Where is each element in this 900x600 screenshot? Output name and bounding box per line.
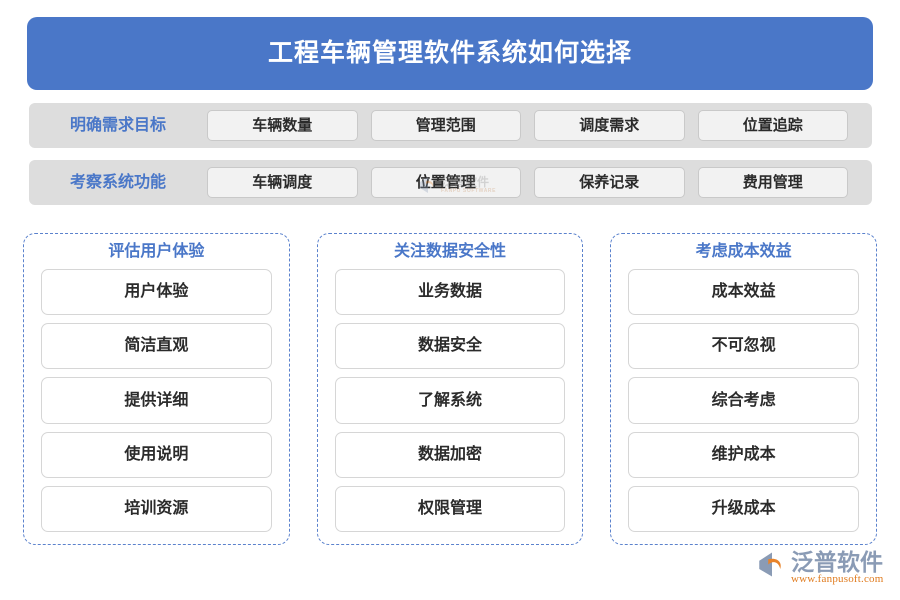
column-user-experience: 评估用户体验 用户体验 简洁直观 提供详细 使用说明 培训资源 bbox=[23, 233, 290, 545]
list-item[interactable]: 数据加密 bbox=[335, 432, 566, 478]
criteria-pill[interactable]: 调度需求 bbox=[534, 110, 685, 141]
list-item[interactable]: 成本效益 bbox=[628, 269, 859, 315]
brand-url: www.fanpusoft.com bbox=[791, 573, 884, 585]
criteria-pill-group: 车辆数量 管理范围 调度需求 位置追踪 bbox=[207, 110, 872, 141]
list-item[interactable]: 了解系统 bbox=[335, 377, 566, 423]
criteria-row-label: 考察系统功能 bbox=[29, 175, 207, 191]
list-item[interactable]: 升级成本 bbox=[628, 486, 859, 532]
column-cost-benefit: 考虑成本效益 成本效益 不可忽视 综合考虑 维护成本 升级成本 bbox=[610, 233, 877, 545]
list-item[interactable]: 简洁直观 bbox=[41, 323, 272, 369]
criteria-pill[interactable]: 保养记录 bbox=[534, 167, 685, 198]
criteria-row-functions: 考察系统功能 车辆调度 位置管理 保养记录 费用管理 bbox=[29, 160, 872, 205]
column-item-list: 成本效益 不可忽视 综合考虑 维护成本 升级成本 bbox=[628, 269, 859, 532]
list-item[interactable]: 使用说明 bbox=[41, 432, 272, 478]
brand-logo-text: 泛普软件 www.fanpusoft.com bbox=[791, 550, 884, 585]
fanpu-logo-icon bbox=[757, 551, 787, 578]
criteria-row-requirements: 明确需求目标 车辆数量 管理范围 调度需求 位置追踪 bbox=[29, 103, 872, 148]
criteria-pill[interactable]: 管理范围 bbox=[371, 110, 522, 141]
list-item[interactable]: 业务数据 bbox=[335, 269, 566, 315]
list-item[interactable]: 维护成本 bbox=[628, 432, 859, 478]
list-item[interactable]: 用户体验 bbox=[41, 269, 272, 315]
list-item[interactable]: 提供详细 bbox=[41, 377, 272, 423]
page-title: 工程车辆管理软件系统如何选择 bbox=[268, 41, 632, 66]
column-item-list: 业务数据 数据安全 了解系统 数据加密 权限管理 bbox=[335, 269, 566, 532]
criteria-row-label: 明确需求目标 bbox=[29, 118, 207, 134]
header-banner: 工程车辆管理软件系统如何选择 bbox=[27, 17, 873, 90]
criteria-pill[interactable]: 位置追踪 bbox=[698, 110, 849, 141]
column-title: 评估用户体验 bbox=[41, 244, 272, 260]
brand-logo: 泛普软件 www.fanpusoft.com bbox=[757, 550, 885, 592]
column-title: 考虑成本效益 bbox=[628, 244, 859, 260]
infographic-root: 工程车辆管理软件系统如何选择 明确需求目标 车辆数量 管理范围 调度需求 位置追… bbox=[0, 0, 900, 600]
column-title: 关注数据安全性 bbox=[335, 244, 566, 260]
criteria-pill[interactable]: 车辆数量 bbox=[207, 110, 358, 141]
list-item[interactable]: 综合考虑 bbox=[628, 377, 859, 423]
list-item[interactable]: 培训资源 bbox=[41, 486, 272, 532]
column-item-list: 用户体验 简洁直观 提供详细 使用说明 培训资源 bbox=[41, 269, 272, 532]
list-item[interactable]: 权限管理 bbox=[335, 486, 566, 532]
brand-name: 泛普软件 bbox=[791, 550, 883, 574]
criteria-pill[interactable]: 车辆调度 bbox=[207, 167, 358, 198]
list-item[interactable]: 不可忽视 bbox=[628, 323, 859, 369]
criteria-pill[interactable]: 费用管理 bbox=[698, 167, 849, 198]
list-item[interactable]: 数据安全 bbox=[335, 323, 566, 369]
criteria-pill-group: 车辆调度 位置管理 保养记录 费用管理 bbox=[207, 167, 872, 198]
columns-container: 评估用户体验 用户体验 简洁直观 提供详细 使用说明 培训资源 关注数据安全性 … bbox=[23, 233, 877, 545]
column-data-security: 关注数据安全性 业务数据 数据安全 了解系统 数据加密 权限管理 bbox=[317, 233, 584, 545]
criteria-pill[interactable]: 位置管理 bbox=[371, 167, 522, 198]
